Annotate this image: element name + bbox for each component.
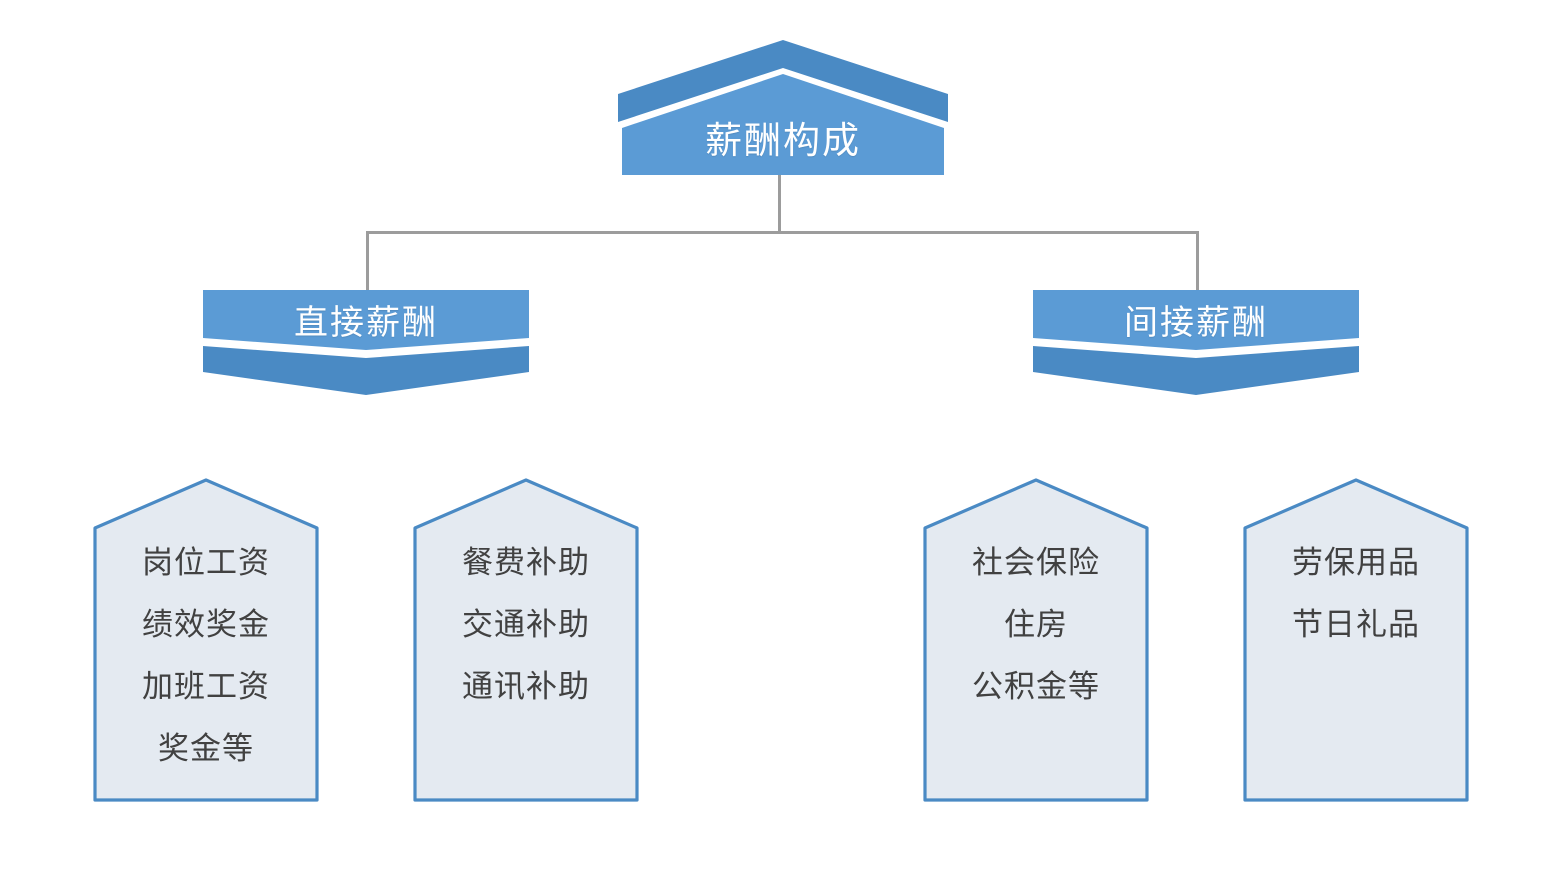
house-pentagon-shape	[1241, 476, 1471, 804]
down-chevron-shape	[203, 288, 529, 400]
house-pentagon-shape	[91, 476, 321, 804]
connector-horizontal-bus	[366, 231, 1199, 234]
leaf-node-indirect-insurance-items[interactable]: 社会保险 住房 公积金等	[921, 476, 1151, 804]
leaf-node-direct-allowance-items[interactable]: 餐费补助 交通补助 通讯补助	[411, 476, 641, 804]
connector-branch-right-drop	[1196, 231, 1199, 291]
house-pentagon-shape	[411, 476, 641, 804]
down-chevron-shape	[1033, 288, 1359, 400]
branch-node-indirect-compensation[interactable]: 间接薪酬	[1033, 288, 1359, 400]
house-pentagon-shape	[921, 476, 1151, 804]
up-chevron-shape	[618, 36, 948, 178]
branch-node-direct-compensation[interactable]: 直接薪酬	[203, 288, 529, 400]
root-node-salary-composition[interactable]: 薪酬构成	[618, 36, 948, 178]
leaf-node-direct-salary-items[interactable]: 岗位工资 绩效奖金 加班工资 奖金等	[91, 476, 321, 804]
connector-branch-left-drop	[366, 231, 369, 291]
diagram-canvas: 薪酬构成 直接薪酬 间接薪酬 岗位工资 绩效奖金 加班工资 奖金等	[0, 0, 1564, 870]
connector-root-stem	[778, 175, 781, 233]
leaf-node-indirect-welfare-items[interactable]: 劳保用品 节日礼品	[1241, 476, 1471, 804]
